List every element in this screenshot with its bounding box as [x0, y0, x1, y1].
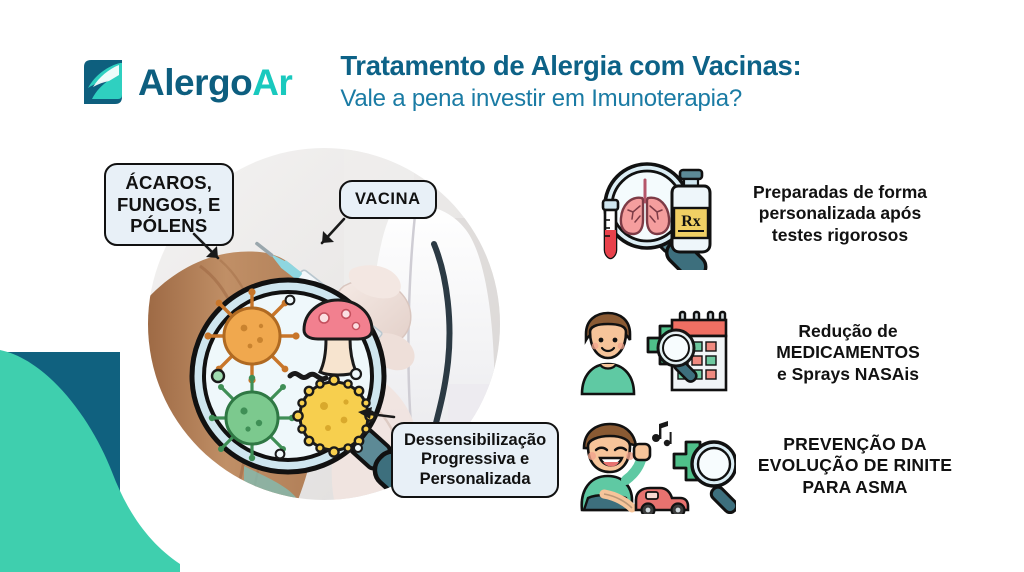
page-subtitle: Vale a pena investir em Imunoterapia? — [340, 84, 801, 114]
alergoar-leaf-mark-icon — [78, 57, 128, 107]
wave-light-shape — [0, 350, 180, 572]
brand-logo[interactable]: AlergoAr — [78, 57, 292, 107]
magnifier-icon — [692, 442, 736, 514]
brand-name-part1: Alergo — [138, 62, 252, 103]
benefit-text: Preparadas de forma personalizada após t… — [730, 182, 950, 247]
allergen-virus-green — [209, 375, 295, 461]
boy-cross-calendar-icon — [568, 308, 728, 398]
callout-acaros: ÁCAROS, FUNGOS, E PÓLENS — [104, 163, 234, 246]
callout-dessensibilizacao: Dessensibilização Progressiva e Personal… — [391, 422, 559, 498]
svg-text:Rx: Rx — [681, 213, 701, 230]
title-block: Tratamento de Alergia com Vacinas: Vale … — [340, 50, 801, 114]
header: AlergoAr Tratamento de Alergia com Vacin… — [78, 50, 801, 114]
child-playing-cross-magnifier-icon — [568, 418, 736, 514]
toy-car — [636, 488, 688, 514]
benefit-preparo-personalizado: Rx Preparadas de forma personalizada apó… — [592, 158, 950, 270]
wave-dark-shape — [0, 352, 120, 572]
test-tube — [603, 200, 618, 258]
lungs-magnifier-vial-icon: Rx — [592, 158, 720, 270]
music-notes-icon — [652, 421, 672, 446]
benefit-prevencao-asma: PREVENÇÃO DA EVOLUÇÃO DE RINITE PARA ASM… — [568, 418, 966, 514]
allergen-pollen-yellow — [293, 375, 374, 456]
callout-vacina: VACINA — [339, 180, 437, 219]
brand-name-part2: Ar — [252, 62, 292, 103]
boy-figure — [582, 313, 634, 394]
brand-wordmark: AlergoAr — [138, 64, 292, 101]
benefit-text: PREVENÇÃO DA EVOLUÇÃO DE RINITE PARA ASM… — [744, 434, 966, 499]
benefit-text: Redução de MEDICAMENTOS e Sprays NASAis — [738, 321, 958, 386]
benefit-reducao-medicamentos: Redução de MEDICAMENTOS e Sprays NASAis — [568, 308, 958, 398]
infographic-canvas: AlergoAr Tratamento de Alergia com Vacin… — [0, 0, 1024, 572]
page-title: Tratamento de Alergia com Vacinas: — [340, 50, 801, 82]
